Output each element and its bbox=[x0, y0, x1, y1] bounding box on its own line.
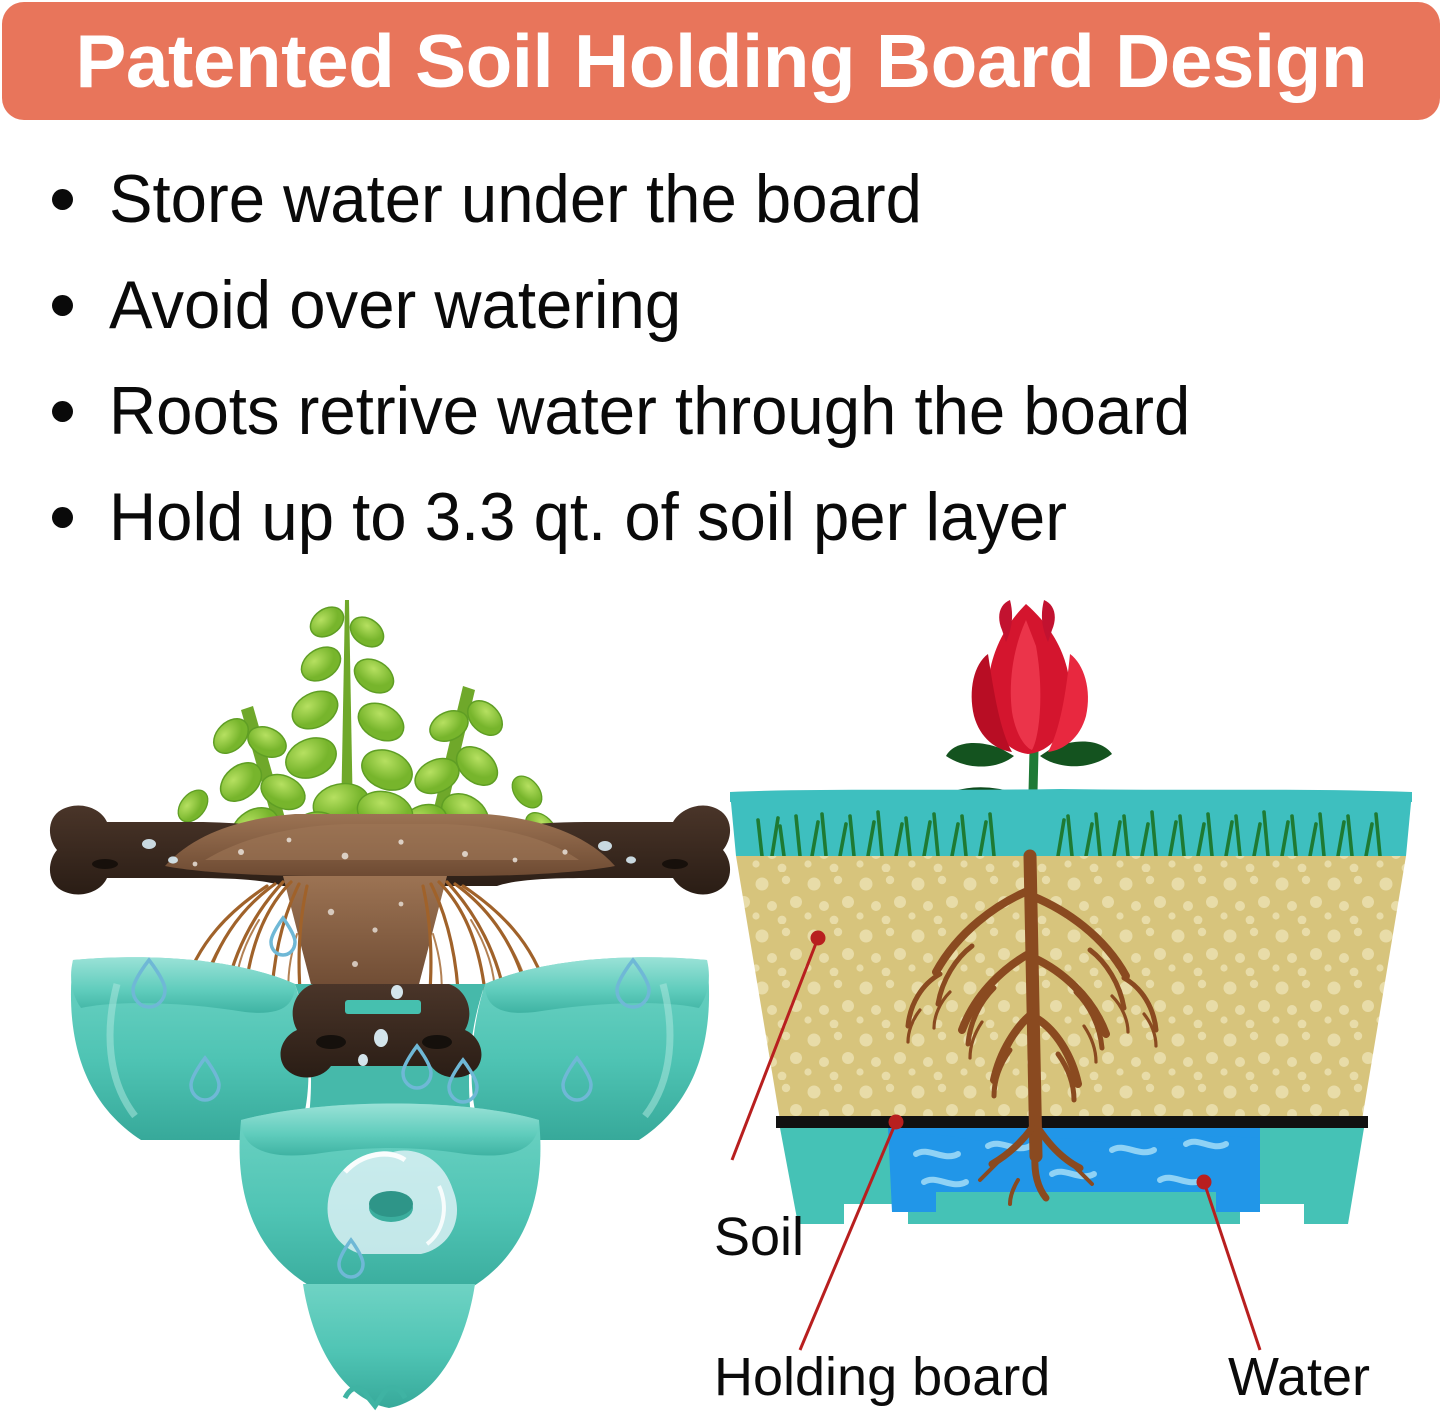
soil-column bbox=[283, 876, 447, 992]
label-water: Water bbox=[1228, 1350, 1370, 1404]
rose-bloom-icon bbox=[972, 600, 1088, 754]
list-item: Avoid over watering bbox=[52, 252, 1412, 358]
bullet-label: Store water under the board bbox=[109, 165, 922, 233]
figure-area bbox=[0, 560, 1445, 1415]
header-banner: Patented Soil Holding Board Design bbox=[2, 2, 1440, 120]
list-item: Roots retrive water through the board bbox=[52, 358, 1412, 464]
product-photo-planter bbox=[45, 560, 735, 1415]
bullet-point-icon bbox=[52, 401, 73, 422]
list-item: Hold up to 3.3 qt. of soil per layer bbox=[52, 464, 1412, 570]
feature-bullet-list: Store water under the board Avoid over w… bbox=[52, 146, 1412, 570]
cross-section-diagram bbox=[700, 560, 1445, 1415]
label-soil: Soil bbox=[714, 1210, 804, 1264]
page-title: Patented Soil Holding Board Design bbox=[75, 24, 1367, 99]
water-reservoir bbox=[780, 1128, 1364, 1224]
planter-illustration bbox=[45, 560, 735, 1415]
holding-board-line bbox=[776, 1116, 1368, 1128]
bullet-label: Avoid over watering bbox=[109, 271, 681, 339]
pot-cross-section-illustration bbox=[700, 560, 1445, 1415]
bullet-point-icon bbox=[52, 507, 73, 528]
bullet-label: Hold up to 3.3 qt. of soil per layer bbox=[109, 483, 1067, 551]
bullet-point-icon bbox=[52, 189, 73, 210]
label-holding-board: Holding board bbox=[714, 1350, 1050, 1404]
soil-holding-board-lower bbox=[281, 984, 482, 1078]
bullet-point-icon bbox=[52, 295, 73, 316]
list-item: Store water under the board bbox=[52, 146, 1412, 252]
bullet-label: Roots retrive water through the board bbox=[109, 377, 1190, 445]
